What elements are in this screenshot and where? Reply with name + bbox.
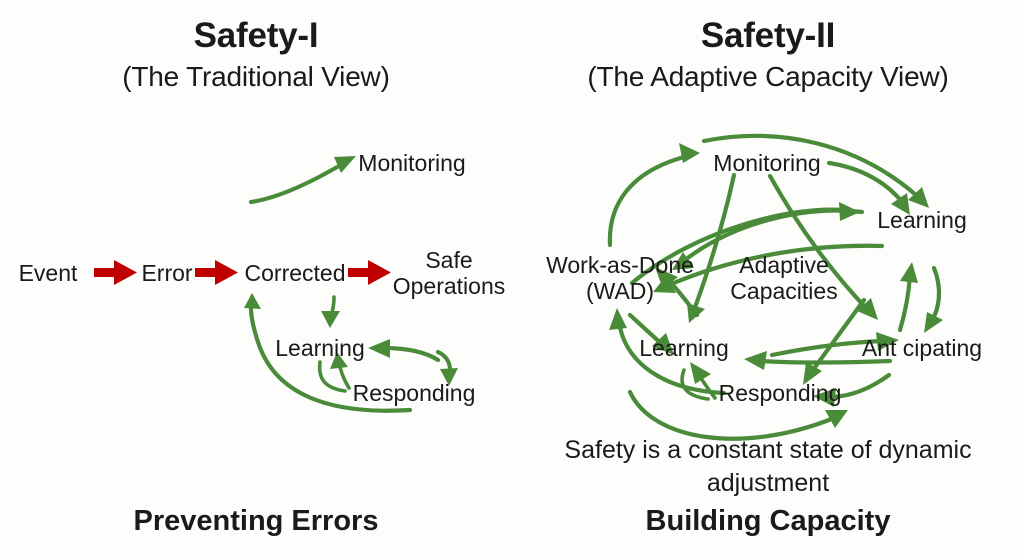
panel-safety-ii: Safety-II (The Adaptive Capacity View) — [512, 0, 1024, 559]
node-right-wad[interactable]: Work-as-Done (WAD) — [546, 252, 694, 304]
node-right-adaptive-capacities[interactable]: Adaptive Capacities — [730, 252, 837, 304]
node-right-monitoring[interactable]: Monitoring — [713, 150, 820, 176]
red-arrow-2 — [195, 260, 238, 285]
left-footer: Preventing Errors — [0, 505, 512, 538]
arrowhead-monitoring-left — [679, 143, 700, 163]
arrow-anticipating-to-learning-up — [900, 275, 910, 330]
node-corrected[interactable]: Corrected — [245, 260, 346, 286]
arrowhead-wad-bottom — [609, 308, 627, 330]
panel-safety-i: Safety-I (The Traditional View) — [0, 0, 512, 559]
arrow-wad-to-monitoring — [610, 157, 684, 245]
node-right-learning-bottom[interactable]: Learning — [639, 335, 729, 361]
node-right-anticipating[interactable]: Ant cipating — [862, 335, 982, 361]
arrow-monitoring-to-learning — [829, 163, 903, 203]
arrowhead-learning-right-loop — [900, 262, 918, 283]
right-caption: Safety is a constant state of dynamic ad… — [512, 434, 1024, 500]
node-right-learning-top[interactable]: Learning — [877, 207, 967, 233]
arrowhead-learning-mid — [839, 202, 860, 221]
right-footer: Building Capacity — [512, 505, 1024, 538]
node-left-responding[interactable]: Responding — [353, 380, 476, 406]
node-left-monitoring[interactable]: Monitoring — [358, 150, 465, 176]
node-error[interactable]: Error — [141, 260, 192, 286]
arrow-learning-to-anticipating-down — [931, 268, 939, 322]
red-arrow-1 — [94, 260, 137, 285]
arrowhead-learning-right-side — [744, 351, 767, 370]
node-left-learning[interactable]: Learning — [275, 335, 365, 361]
node-safe-operations[interactable]: Safe Operations — [393, 247, 506, 299]
node-right-responding[interactable]: Responding — [719, 380, 842, 406]
red-arrow-3 — [348, 260, 391, 285]
arrow-anticipating-to-learning — [760, 361, 890, 363]
slide-canvas: Safety-I (The Traditional View) — [0, 0, 1024, 559]
